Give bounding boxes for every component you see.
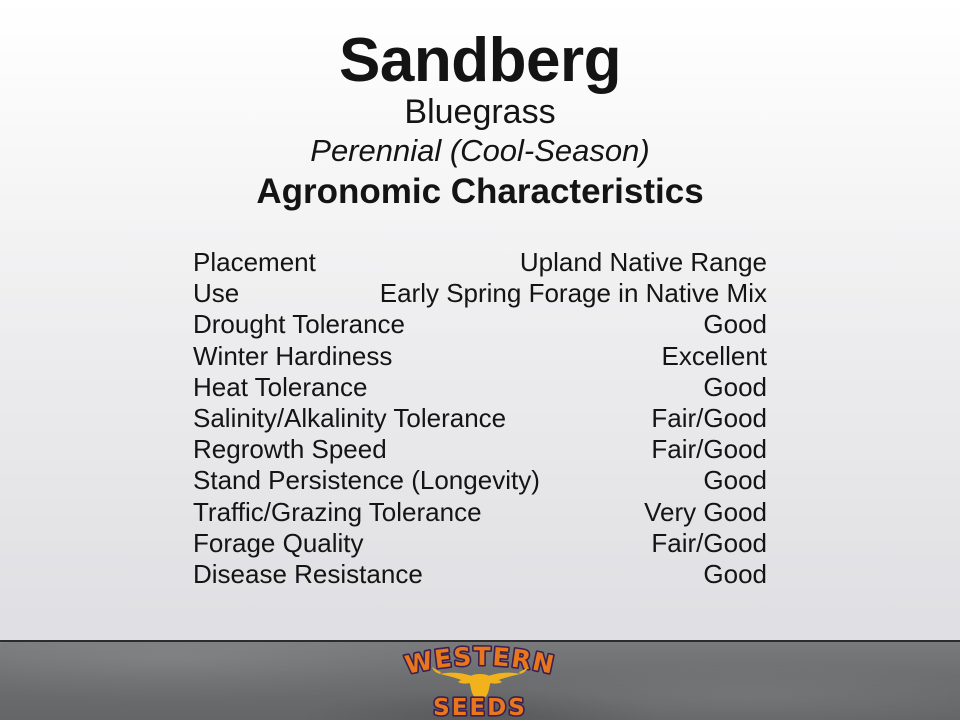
table-row: Salinity/Alkalinity Tolerance Fair/Good <box>193 403 767 434</box>
characteristic-label: Placement <box>193 247 316 278</box>
agronomic-characteristics-table: Placement Upland Native Range Use Early … <box>193 247 767 590</box>
lifecycle-label: Perennial (Cool-Season) <box>0 133 960 170</box>
table-row: Heat Tolerance Good <box>193 372 767 403</box>
characteristic-label: Use <box>193 278 239 309</box>
characteristic-label: Heat Tolerance <box>193 372 367 403</box>
characteristic-value: Good <box>703 465 767 496</box>
characteristic-value: Good <box>703 372 767 403</box>
characteristic-value: Upland Native Range <box>520 247 767 278</box>
characteristic-label: Forage Quality <box>193 528 364 559</box>
characteristic-label: Traffic/Grazing Tolerance <box>193 497 482 528</box>
characteristic-value: Early Spring Forage in Native Mix <box>380 278 767 309</box>
table-row: Traffic/Grazing Tolerance Very Good <box>193 497 767 528</box>
table-row: Use Early Spring Forage in Native Mix <box>193 278 767 309</box>
table-row: Stand Persistence (Longevity) Good <box>193 465 767 496</box>
characteristic-value: Fair/Good <box>651 434 767 465</box>
slide-header: Sandberg Bluegrass Perennial (Cool-Seaso… <box>0 28 960 213</box>
footer-band: WESTERN SEEDS <box>0 640 960 720</box>
characteristic-label: Winter Hardiness <box>193 341 392 372</box>
characteristic-value: Excellent <box>662 341 768 372</box>
table-row: Disease Resistance Good <box>193 559 767 590</box>
page-title: Sandberg <box>0 28 960 95</box>
table-row: Winter Hardiness Excellent <box>193 341 767 372</box>
characteristic-label: Salinity/Alkalinity Tolerance <box>193 403 506 434</box>
western-seeds-logo: WESTERN SEEDS <box>400 643 560 719</box>
table-row: Drought Tolerance Good <box>193 309 767 340</box>
characteristic-label: Drought Tolerance <box>193 309 405 340</box>
table-row: Placement Upland Native Range <box>193 247 767 278</box>
logo-word-seeds: SEEDS <box>433 695 527 719</box>
characteristic-label: Disease Resistance <box>193 559 423 590</box>
characteristic-label: Stand Persistence (Longevity) <box>193 465 540 496</box>
table-row: Regrowth Speed Fair/Good <box>193 434 767 465</box>
slide: Sandberg Bluegrass Perennial (Cool-Seaso… <box>0 0 960 720</box>
characteristic-value: Good <box>703 559 767 590</box>
page-subtitle: Bluegrass <box>0 93 960 132</box>
characteristic-label: Regrowth Speed <box>193 434 387 465</box>
characteristic-value: Fair/Good <box>651 528 767 559</box>
table-row: Forage Quality Fair/Good <box>193 528 767 559</box>
characteristic-value: Fair/Good <box>651 403 767 434</box>
characteristic-value: Good <box>703 309 767 340</box>
section-heading: Agronomic Characteristics <box>0 172 960 213</box>
characteristic-value: Very Good <box>644 497 767 528</box>
